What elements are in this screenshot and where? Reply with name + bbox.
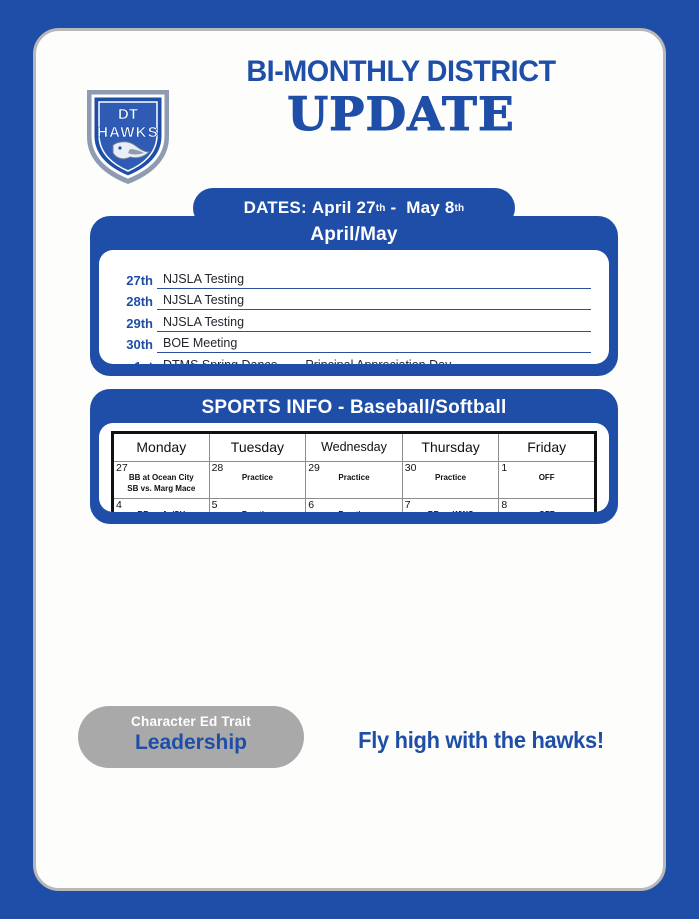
date-row-event: DTMS Spring Dance Principal Appreciation…	[157, 358, 591, 365]
sports-cell-text: Practice	[403, 462, 499, 483]
sports-column-header: Monday	[113, 433, 210, 462]
dates-start-month: April	[312, 198, 352, 218]
calendar-panel-title: April/May	[99, 223, 609, 250]
dates-end-month: May	[406, 198, 440, 218]
character-ed-trait-label: Character Ed Trait	[78, 714, 304, 730]
sports-day-cell: 1OFF	[499, 462, 596, 499]
sports-day-cell: 28Practice	[209, 462, 306, 499]
sports-column-header: Wednesday	[306, 433, 403, 462]
sports-cell-text: Practice	[306, 462, 402, 483]
sports-table-header-row: MondayTuesdayWednesdayThursdayFriday	[113, 433, 596, 462]
sports-panel-title: SPORTS INFO - Baseball/Softball	[99, 396, 609, 423]
character-ed-trait-value: Leadership	[78, 730, 304, 756]
title-line-2: UPDATE	[141, 89, 661, 139]
sports-cell-text: Practice	[306, 499, 402, 512]
sports-cell-date: 29	[308, 462, 320, 474]
sports-panel-body: MondayTuesdayWednesdayThursdayFriday 27B…	[99, 423, 609, 512]
date-row-day: 27th	[111, 274, 153, 289]
sports-cell-text: OFF	[499, 499, 594, 512]
date-row-event: BOE Meeting	[157, 336, 591, 353]
sports-cell-date: 28	[212, 462, 224, 474]
sports-day-cell: 7BB vs WWC SB practice	[402, 499, 499, 513]
poster-title: BI-MONTHLY DISTRICT UPDATE	[146, 55, 656, 139]
date-row-day: 28th	[111, 295, 153, 310]
sports-cell-date: 4	[116, 499, 122, 511]
dates-separator: -	[391, 198, 397, 218]
sports-day-cell: 29Practice	[306, 462, 403, 499]
sports-cell-date: 5	[212, 499, 218, 511]
date-list: 27thNJSLA Testing28thNJSLA Testing29thNJ…	[99, 250, 609, 364]
sports-table-body: 27BB at Ocean City SB vs. Marg Mace28Pra…	[113, 462, 596, 513]
title-line-1: BI-MONTHLY DISTRICT	[156, 55, 646, 89]
poster-header: DT HAWKS BI-MONTHLY DISTRICT UPDATE DATE…	[36, 31, 663, 201]
dates-end-suffix: th	[455, 203, 465, 214]
date-row-day: 29th	[111, 317, 153, 332]
sports-cell-text: OFF	[499, 462, 594, 483]
character-ed-trait-badge: Character Ed Trait Leadership	[78, 706, 304, 768]
calendar-panel: April/May 27thNJSLA Testing28thNJSLA Tes…	[90, 216, 618, 376]
date-row: 29thNJSLA Testing	[111, 310, 591, 332]
date-row-day: 30th	[111, 338, 153, 353]
sports-cell-text: Practice	[210, 462, 306, 483]
svg-text:DT: DT	[118, 106, 138, 123]
sports-cell-date: 8	[501, 499, 507, 511]
date-row-event: NJSLA Testing	[157, 293, 591, 310]
sports-cell-text: BB vs Av/SH SB @Av/SH	[114, 499, 209, 512]
sports-day-cell: 4BB vs Av/SH SB @Av/SH	[113, 499, 210, 513]
sports-column-header: Thursday	[402, 433, 499, 462]
sports-day-cell: 5Practice	[209, 499, 306, 513]
poster-card: DT HAWKS BI-MONTHLY DISTRICT UPDATE DATE…	[33, 28, 666, 891]
dates-start-day: 27	[356, 198, 375, 218]
date-row-day: 1st	[111, 360, 153, 365]
sports-cell-date: 7	[405, 499, 411, 511]
date-row-event: NJSLA Testing	[157, 315, 591, 332]
sports-column-header: Tuesday	[209, 433, 306, 462]
sports-cell-date: 30	[405, 462, 417, 474]
sports-schedule-table: MondayTuesdayWednesdayThursdayFriday 27B…	[111, 431, 597, 512]
sports-cell-date: 6	[308, 499, 314, 511]
sports-cell-text: BB vs WWC SB practice	[403, 499, 499, 512]
sports-cell-date: 27	[116, 462, 128, 474]
sports-cell-date: 1	[501, 462, 507, 474]
dates-end-day: 8	[445, 198, 455, 218]
sports-week-row: 27BB at Ocean City SB vs. Marg Mace28Pra…	[113, 462, 596, 499]
date-row: 28thNJSLA Testing	[111, 289, 591, 311]
date-row: 1stDTMS Spring Dance Principal Appreciat…	[111, 353, 591, 364]
sports-column-header: Friday	[499, 433, 596, 462]
sports-day-cell: 8OFF	[499, 499, 596, 513]
date-row: 27thNJSLA Testing	[111, 267, 591, 289]
sports-cell-text: BB at Ocean City SB vs. Marg Mace	[114, 462, 209, 494]
calendar-panel-body: 27thNJSLA Testing28thNJSLA Testing29thNJ…	[99, 250, 609, 364]
sports-table-wrap: MondayTuesdayWednesdayThursdayFriday 27B…	[99, 423, 609, 512]
date-row: 30thBOE Meeting	[111, 332, 591, 354]
dates-start-suffix: th	[376, 203, 386, 214]
sports-week-row: 4BB vs Av/SH SB @Av/SH5Practice6Practice…	[113, 499, 596, 513]
date-row-event: NJSLA Testing	[157, 272, 591, 289]
sports-day-cell: 27BB at Ocean City SB vs. Marg Mace	[113, 462, 210, 499]
sports-panel: SPORTS INFO - Baseball/Softball MondayTu…	[90, 389, 618, 524]
sports-day-cell: 30Practice	[402, 462, 499, 499]
sports-cell-text: Practice	[210, 499, 306, 512]
poster-page: DT HAWKS BI-MONTHLY DISTRICT UPDATE DATE…	[0, 0, 699, 919]
slogan-text: Fly high with the hawks!	[339, 727, 624, 754]
dates-label: DATES:	[244, 198, 307, 218]
sports-day-cell: 6Practice	[306, 499, 403, 513]
